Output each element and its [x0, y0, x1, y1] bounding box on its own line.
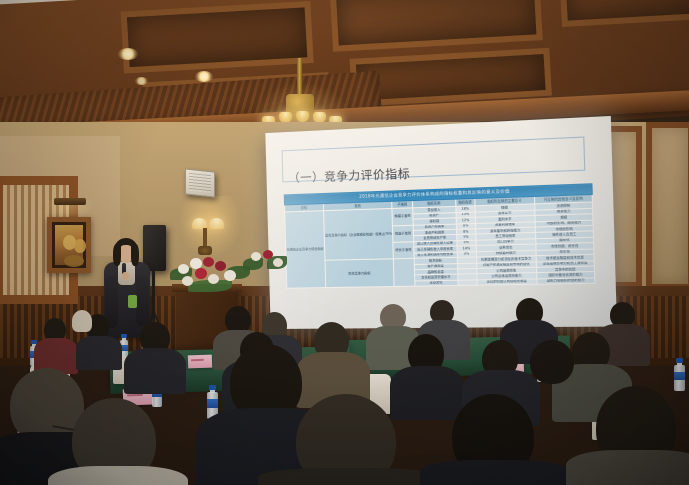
- flower-red: [263, 250, 273, 259]
- indicator-cell: 企业文化: [414, 280, 458, 286]
- flower-white: [208, 274, 219, 284]
- ceiling-coffer: [559, 0, 689, 27]
- flower-red: [195, 268, 207, 279]
- flower-white: [251, 252, 261, 261]
- subcriteria-cell: 增长子准则: [393, 242, 413, 259]
- conference-room-photo: （一）竞争力评价指标 2018年光通信企业竞争力评价体系构成的指标权重和其反映的…: [0, 0, 689, 485]
- flower-white: [178, 264, 189, 274]
- floral-arrangement-secondary: [243, 246, 289, 286]
- wall-speaker-icon: [185, 168, 215, 197]
- picture-light-icon: [54, 198, 86, 205]
- subcriteria-cell: [394, 258, 415, 286]
- presenter-badge: [128, 295, 137, 308]
- chandelier-rod: [297, 58, 302, 98]
- subcriteria-cell: 规模子准则: [392, 208, 412, 225]
- presenter-hand: [122, 272, 129, 280]
- chandelier-lamp-icon: [296, 111, 309, 122]
- flower-red: [215, 261, 226, 271]
- wall-panel: [646, 122, 689, 290]
- subcriteria-cell: 效益子准则: [393, 225, 413, 242]
- criteria-cell: 显性竞争力指标（企业规模和效益）权重占70%: [324, 209, 394, 261]
- ceiling-coffer: [330, 0, 543, 52]
- projection-screen[interactable]: （一）竞争力评价指标 2018年光通信企业竞争力评价体系构成的指标权重和其反映的…: [265, 116, 617, 329]
- flower-white: [182, 276, 193, 286]
- downlight-icon: [118, 48, 138, 60]
- painting-shape: [64, 255, 84, 267]
- slide-table: 2018年光通信企业竞争力评价体系构成的指标权重和其反映的意义及价值 目标 准则…: [284, 183, 596, 289]
- criteria-cell: 隐性竞争力指标: [325, 259, 395, 288]
- framed-painting: [47, 217, 91, 273]
- presenter-hair: [113, 244, 121, 266]
- weight-cell: [458, 280, 477, 286]
- ceiling-coffer: [121, 1, 314, 74]
- sconce-lamp-icon: [209, 218, 224, 229]
- sconce-stem: [203, 228, 207, 248]
- painting-canvas: [55, 225, 83, 265]
- flower-white: [224, 270, 236, 281]
- flower-white: [273, 258, 283, 267]
- flower-red: [203, 257, 214, 267]
- other-cell: 凝聚力和组织的创新能力: [537, 278, 595, 285]
- goal-cell: 光通信企业竞争力综合指标: [285, 211, 326, 288]
- downlight-icon: [135, 77, 148, 85]
- presenter-arm: [136, 276, 149, 326]
- downlight-icon: [195, 71, 213, 82]
- presenter-hair: [131, 244, 139, 266]
- speaker-grille: [189, 173, 211, 193]
- floral-arrangement: [168, 252, 252, 296]
- meaning-cell: 企业的社会认同感和忠诚度: [477, 279, 537, 286]
- painting-shape: [74, 239, 86, 253]
- name-card: [188, 355, 212, 369]
- water-bottle: [674, 358, 685, 391]
